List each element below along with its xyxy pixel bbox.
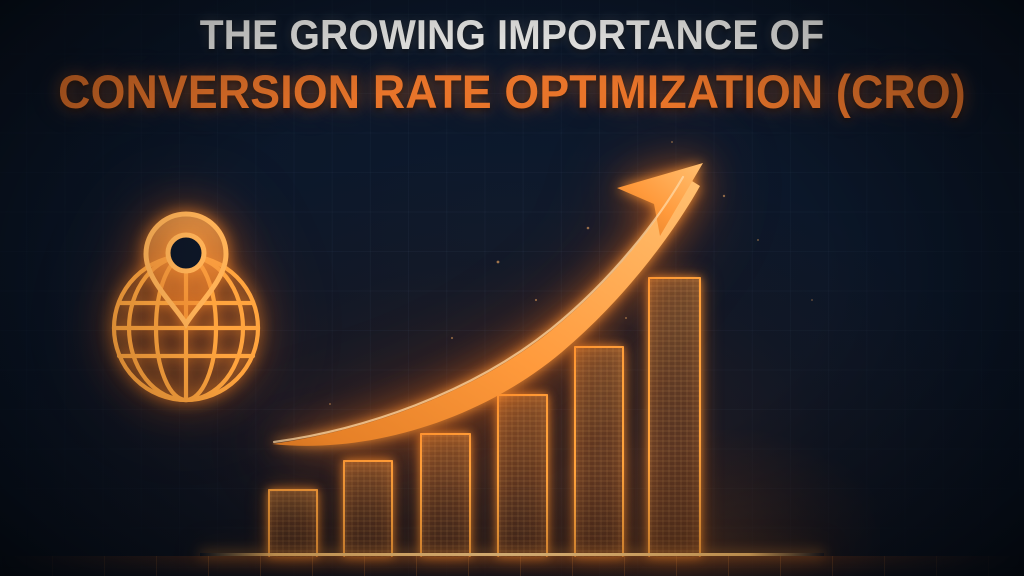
upward-trend-arrow-icon [0,0,1024,576]
banner-canvas: THE GROWING IMPORTANCE OF CONVERSION RAT… [0,0,1024,576]
